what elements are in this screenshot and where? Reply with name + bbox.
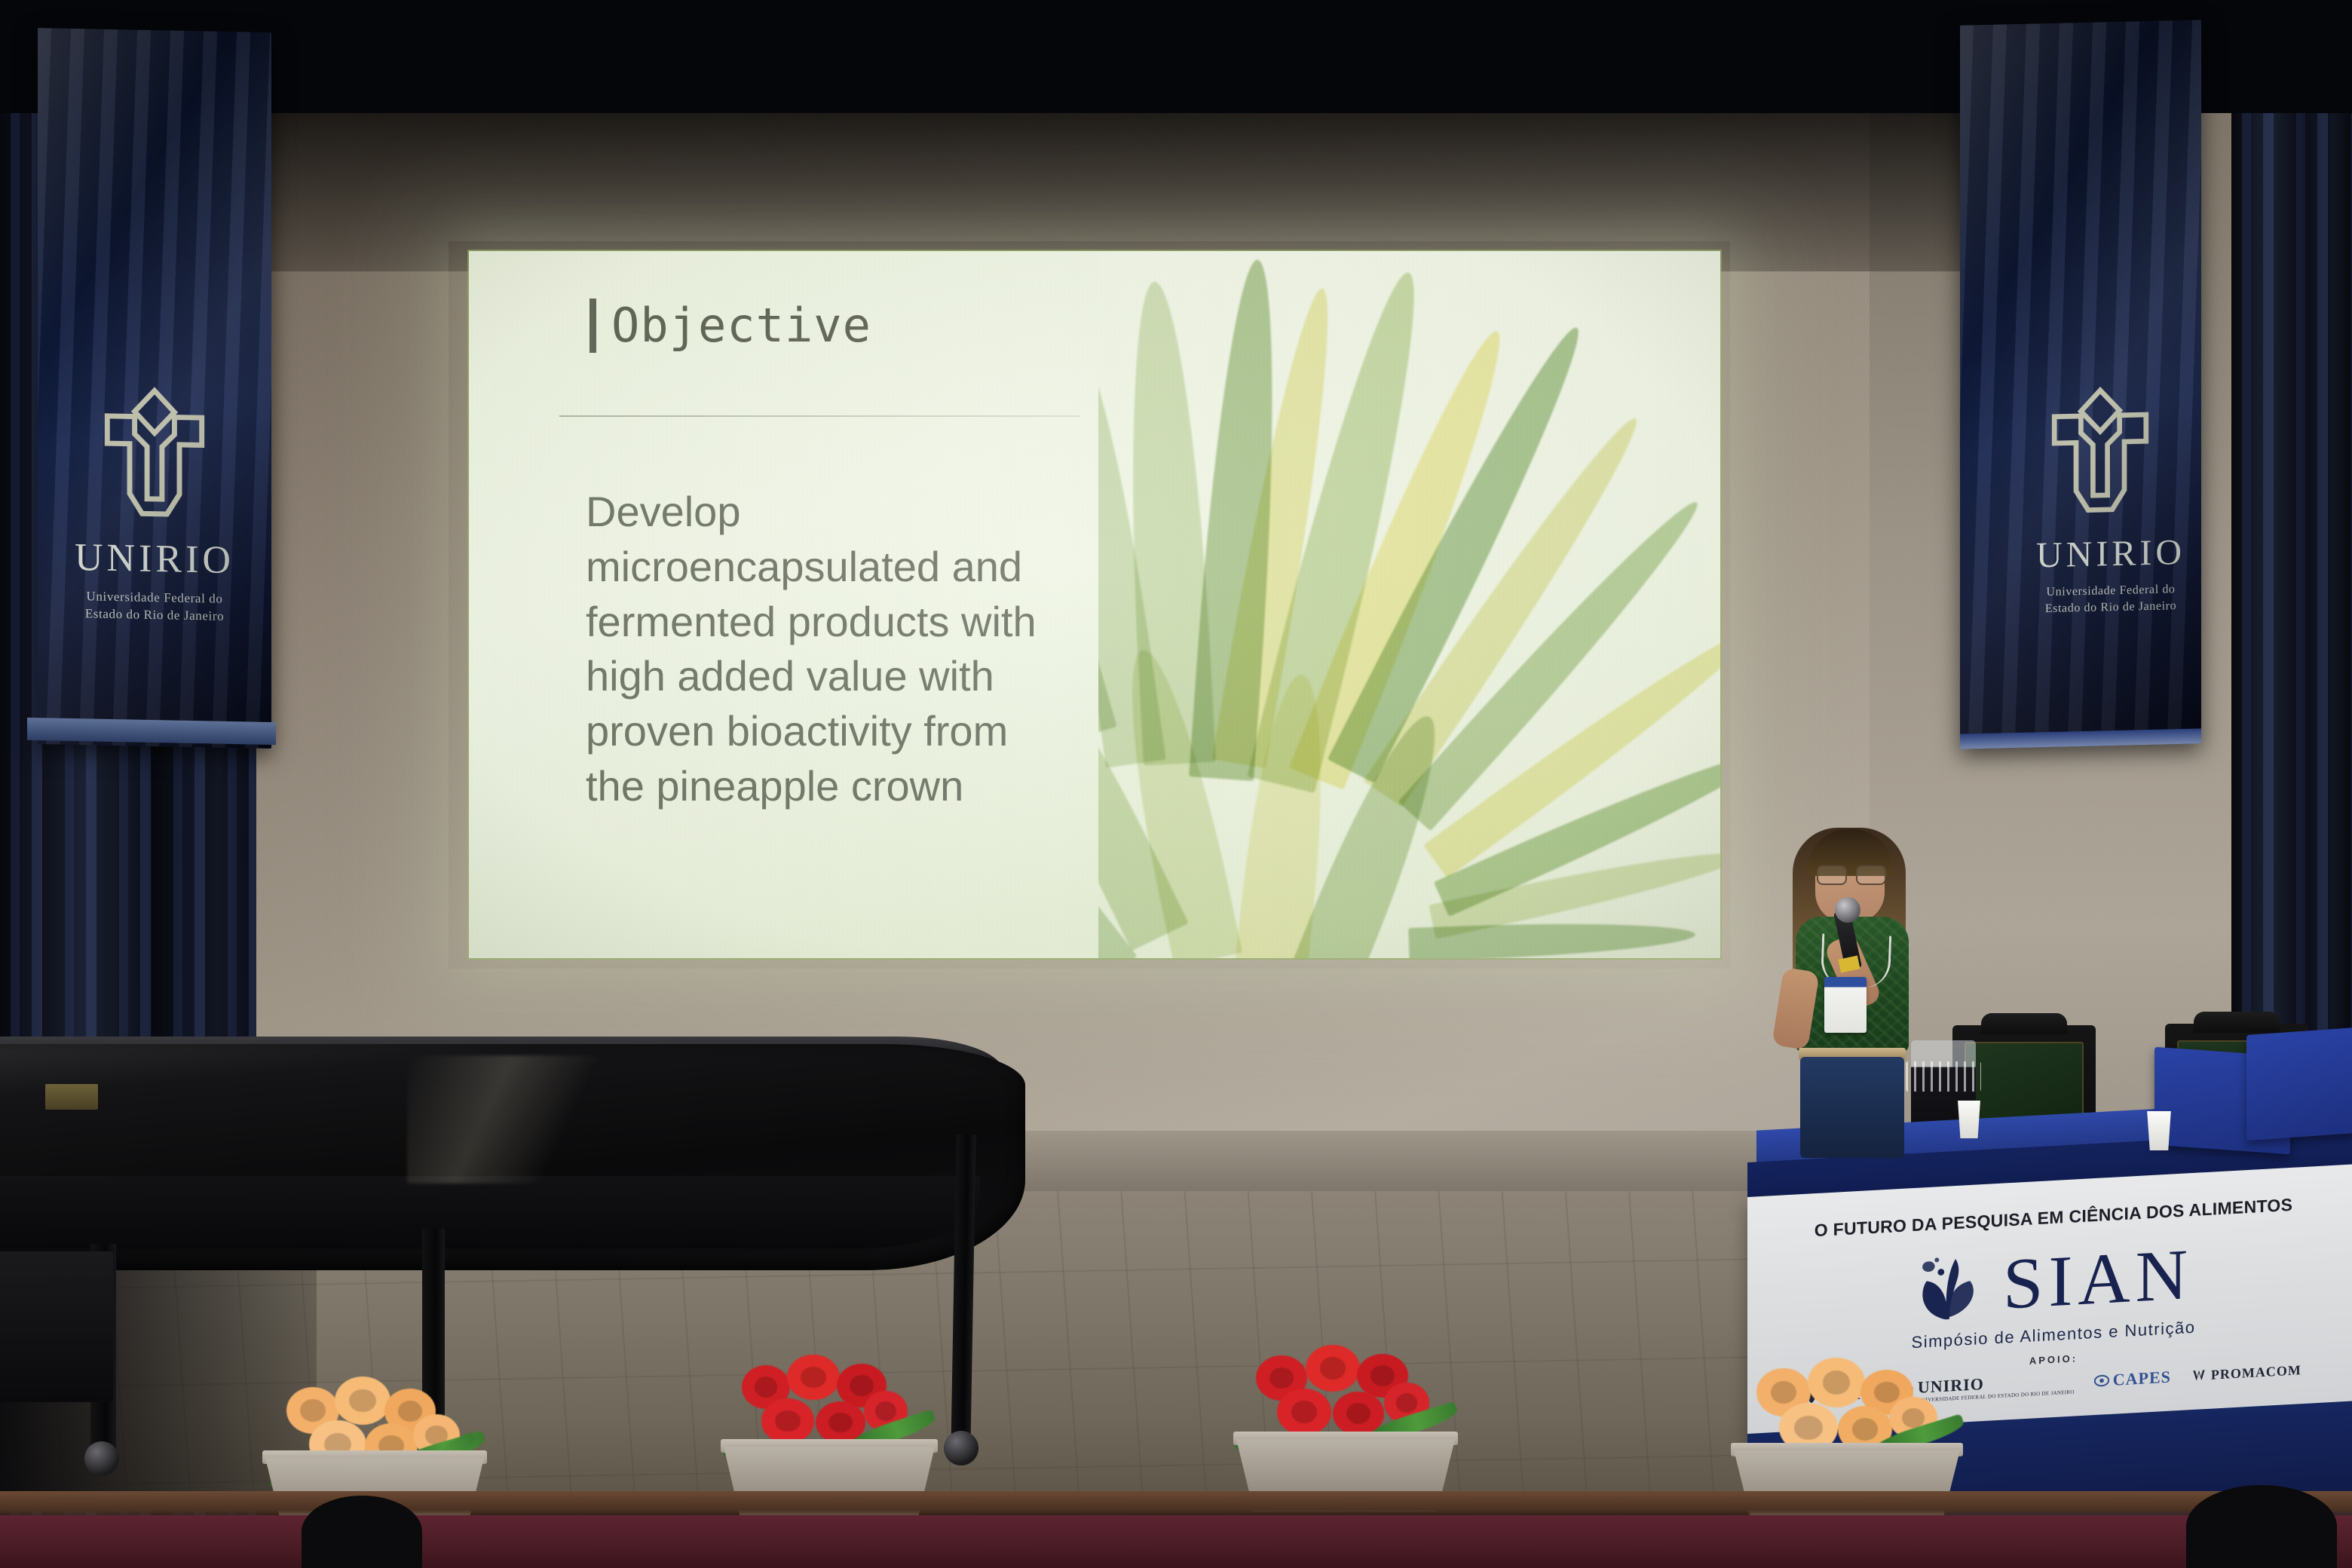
conference-badge	[1824, 977, 1867, 1033]
glasses-icon	[1817, 865, 1883, 882]
sponsor-name: CAPES	[2113, 1367, 2171, 1390]
laptop-second[interactable]	[2246, 1027, 2352, 1141]
slide-title-group: Objective	[590, 298, 871, 353]
stage-curtain-right	[2231, 0, 2352, 1101]
slide-body-line: the pineapple crown	[586, 759, 1098, 814]
paper-cup	[2145, 1111, 2173, 1150]
chair-crest	[2194, 1012, 2280, 1033]
presenter-jeans	[1800, 1057, 1904, 1158]
curtain-sheen	[2231, 0, 2352, 1101]
slide-body-line: microencapsulated and	[586, 540, 1098, 595]
banner-base-strip-left	[27, 718, 276, 745]
capes-eye-icon	[2094, 1374, 2109, 1387]
glasses-lens	[1817, 865, 1847, 885]
audience-head	[2186, 1485, 2337, 1568]
unirio-banner-left: UNIRIO Universidade Federal do Estado do…	[38, 28, 271, 749]
piano-caster	[84, 1441, 119, 1476]
sponsor-capes: CAPES	[2094, 1367, 2171, 1392]
sponsor-name: PROMACOM	[2211, 1362, 2301, 1383]
piano-body	[0, 1176, 980, 1248]
auditorium-scene: UNIRIO Universidade Federal do Estado do…	[0, 0, 2352, 1568]
title-divider	[559, 415, 1080, 417]
planter-red-right	[1236, 1349, 1455, 1511]
paper-cup	[1956, 1101, 1982, 1138]
glasses-lens	[1856, 865, 1886, 885]
slide-body-line: Develop	[586, 485, 1098, 540]
microphone-head	[1835, 897, 1860, 923]
piano-nameplate	[45, 1084, 98, 1110]
piano-bench	[0, 1251, 113, 1402]
sian-acronym: SIAN	[2003, 1242, 2193, 1317]
piano-caster	[944, 1431, 978, 1465]
presenter	[1756, 822, 1960, 1153]
slide-title: Objective	[611, 298, 871, 353]
piano-reflection	[407, 1055, 724, 1184]
audience-head	[302, 1496, 422, 1568]
projected-slide: Objective Develop microencapsulated and …	[469, 251, 1720, 958]
title-accent-bar	[590, 299, 596, 353]
promacom-icon	[2191, 1368, 2207, 1383]
slide-body-line: fermented products with	[586, 595, 1098, 650]
slide-body-text: Develop microencapsulated and fermented …	[586, 485, 1098, 814]
banner-gloss	[38, 28, 271, 749]
banner-gloss	[1960, 20, 2201, 749]
chair-crest	[1981, 1013, 2067, 1034]
unirio-banner-right: UNIRIO Universidade Federal do Estado do…	[1960, 20, 2201, 749]
pineapple-crown-illustration	[1098, 251, 1720, 958]
slide-body-line: high added value with	[586, 649, 1098, 704]
sian-sprout-icon	[1914, 1248, 1997, 1325]
slide-body-line: proven bioactivity from	[586, 704, 1098, 759]
sponsor-promacom: PROMACOM	[2191, 1362, 2301, 1384]
